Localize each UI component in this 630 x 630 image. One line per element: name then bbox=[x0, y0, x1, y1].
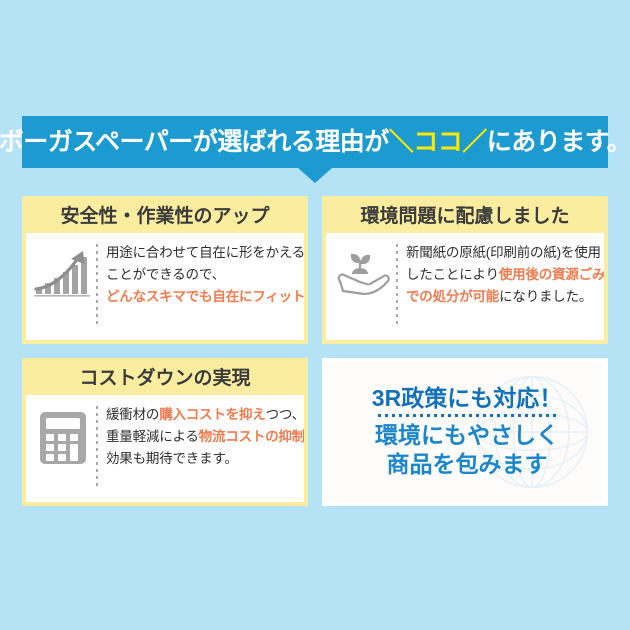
card-text-line: 緩衝材の購入コストを抑えつつ、 bbox=[106, 404, 305, 426]
card-text-line: 重量軽減による物流コストの抑制 bbox=[106, 426, 305, 448]
text-segment-highlight: 物流コストの抑制 bbox=[199, 429, 305, 444]
card-header: 環境問題に配慮しました bbox=[326, 200, 604, 233]
icon-container bbox=[332, 242, 394, 300]
text-segment: したことにより bbox=[406, 267, 499, 282]
banner-highlight-koko: ＼ココ／ bbox=[389, 128, 487, 156]
sprout-in-hand-icon bbox=[334, 248, 392, 300]
text-segment: 重量軽減による bbox=[106, 429, 199, 444]
card-text-line: したことにより使用後の資源ごみ bbox=[406, 264, 605, 286]
banner-arrow-notch bbox=[298, 168, 332, 183]
text-segment: 効果も期待できます。 bbox=[106, 451, 238, 466]
card-text-line: ことができるので、 bbox=[106, 264, 308, 286]
card-body: 緩衝材の購入コストを抑えつつ、 重量軽減による物流コストの抑制 効果も期待できま… bbox=[26, 395, 304, 495]
card-title: 環境問題に配慮しました bbox=[360, 207, 569, 226]
banner-bar: ボーガスペーパーが選ばれる理由が＼ココ／にあります。 bbox=[22, 116, 608, 168]
card-header: 安全性・作業性のアップ bbox=[26, 200, 304, 233]
feature-card-environment: 環境問題に配慮しました 新聞紙の原紙(印刷前の紙)を使用 bbox=[322, 196, 608, 344]
card-3r-line1: 3R政策にも対応！ bbox=[372, 385, 562, 411]
card-title: 安全性・作業性のアップ bbox=[60, 207, 269, 226]
dotted-divider bbox=[96, 406, 98, 487]
icon-container bbox=[32, 404, 94, 466]
text-segment: 。 bbox=[305, 289, 308, 304]
text-segment-highlight: 購入コストを抑え bbox=[159, 407, 265, 422]
card-text-line: 効果も期待できます。 bbox=[106, 448, 305, 470]
card-text: 用途に合わせて自在に形をかえる ことができるので、 どんなスキマでも自在にフィッ… bbox=[106, 242, 308, 308]
text-segment: 新聞紙の原紙(印刷前の紙)を使用 bbox=[406, 245, 601, 260]
card-3r-text: 3R政策にも対応！ 環境にもやさしく 商品を包みます bbox=[368, 385, 562, 479]
feature-card-cost: コストダウンの実現 bbox=[22, 358, 308, 506]
feature-card-grid: 安全性・作業性のアップ bbox=[22, 196, 608, 506]
text-segment: 用途に合わせて自在に形をかえる bbox=[106, 245, 305, 260]
text-segment: になりました。 bbox=[499, 289, 592, 304]
bar-chart-growth-icon bbox=[34, 248, 92, 300]
card-text-line: どんなスキマでも自在にフィット。 bbox=[106, 286, 308, 308]
calculator-icon bbox=[38, 410, 88, 466]
card-body: 用途に合わせて自在に形をかえる ことができるので、 どんなスキマでも自在にフィッ… bbox=[26, 233, 304, 333]
banner-title: ボーガスペーパーが選ばれる理由が＼ココ／にあります。 bbox=[0, 130, 630, 155]
text-segment-highlight: での処分が可能 bbox=[406, 289, 499, 304]
card-text-line: 新聞紙の原紙(印刷前の紙)を使用 bbox=[406, 242, 605, 264]
card-text-line: 用途に合わせて自在に形をかえる bbox=[106, 242, 308, 264]
text-segment-highlight: 使用後の資源ごみ bbox=[499, 267, 605, 282]
header-banner: ボーガスペーパーが選ばれる理由が＼ココ／にあります。 bbox=[22, 116, 608, 168]
card-3r-line2: 環境にもやさしく bbox=[372, 421, 562, 450]
dotted-divider bbox=[96, 244, 98, 325]
icon-container bbox=[32, 242, 94, 300]
feature-card-safety: 安全性・作業性のアップ bbox=[22, 196, 308, 344]
text-segment: 緩衝材の bbox=[106, 407, 159, 422]
card-body: 新聞紙の原紙(印刷前の紙)を使用 したことにより使用後の資源ごみ での処分が可能… bbox=[326, 233, 604, 333]
card-text: 新聞紙の原紙(印刷前の紙)を使用 したことにより使用後の資源ごみ での処分が可能… bbox=[406, 242, 605, 308]
dotted-underline bbox=[378, 414, 556, 417]
text-segment: ことができるので、 bbox=[106, 267, 225, 282]
text-segment: つつ、 bbox=[266, 407, 305, 422]
banner-text-after: にあります。 bbox=[487, 128, 630, 156]
card-header: コストダウンの実現 bbox=[26, 362, 304, 395]
dotted-divider bbox=[396, 244, 398, 325]
card-3r-line3: 商品を包みます bbox=[372, 450, 562, 479]
card-title: コストダウンの実現 bbox=[79, 369, 250, 388]
banner-text-before: ボーガスペーパーが選ばれる理由が bbox=[0, 128, 389, 156]
feature-card-3r: 3R政策にも対応！ 環境にもやさしく 商品を包みます bbox=[322, 358, 608, 506]
card-text-line: での処分が可能になりました。 bbox=[406, 286, 605, 308]
card-text: 緩衝材の購入コストを抑えつつ、 重量軽減による物流コストの抑制 効果も期待できま… bbox=[106, 404, 305, 470]
text-segment-highlight: どんなスキマでも自在にフィット bbox=[106, 289, 305, 304]
